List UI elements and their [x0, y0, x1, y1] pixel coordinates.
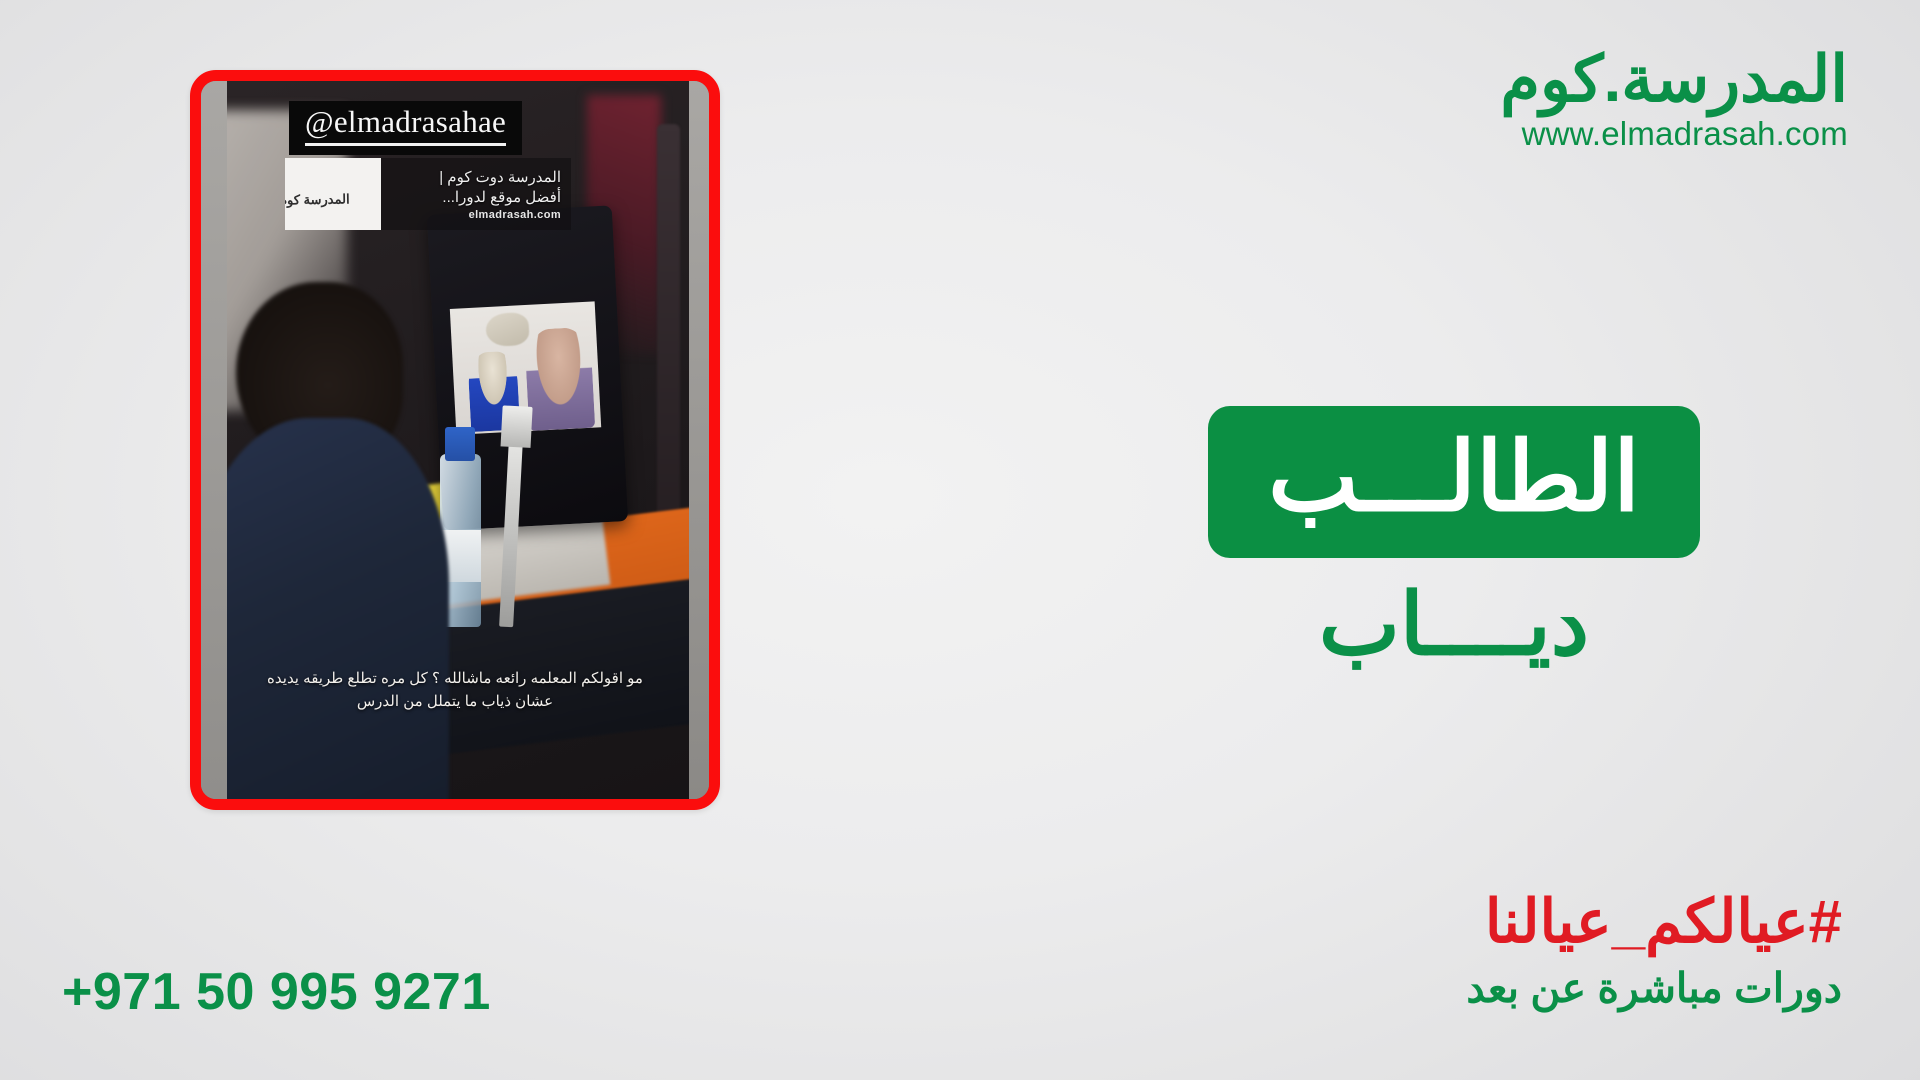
handle-underline — [305, 143, 506, 146]
link-preview-meta: المدرسة دوت كوم | أفضل موقع لدورا... elm… — [381, 158, 571, 230]
brand-logo: المدرسة.كوم www.elmadrasah.com — [1500, 46, 1848, 153]
student-name: ديــــاب — [1208, 578, 1700, 673]
video-caption: مو اقولكم المعلمه رائعه ماشالله ؟ كل مره… — [215, 667, 695, 714]
brand-website: www.elmadrasah.com — [1500, 115, 1848, 153]
instagram-handle-text: @elmadrasahae — [305, 106, 506, 139]
video-inner: @elmadrasahae المدرسة كوم المدرسة دوت كو… — [201, 81, 709, 799]
campaign-tagline: دورات مباشرة عن بعد — [1466, 965, 1842, 1012]
link-preview-title-line-2: أفضل موقع لدورا... — [391, 188, 561, 208]
contact-phone-number: +971 50 995 9271 — [62, 962, 491, 1022]
brand-name-arabic: المدرسة.كوم — [1500, 46, 1848, 113]
scene-student-body — [227, 418, 449, 799]
link-preview-thumbnail: المدرسة كوم — [285, 158, 381, 230]
video-thumbnail-card[interactable]: @elmadrasahae المدرسة كوم المدرسة دوت كو… — [190, 70, 720, 810]
link-preview-sticker[interactable]: المدرسة كوم المدرسة دوت كوم | أفضل موقع … — [285, 158, 571, 230]
video-caption-line-2: عشان ذياب ما يتملل من الدرس — [215, 690, 695, 713]
video-caption-line-1: مو اقولكم المعلمه رائعه ماشالله ؟ كل مره… — [215, 667, 695, 690]
link-preview-thumb-text: المدرسة كوم — [285, 191, 350, 208]
scene-teacher-hand — [485, 312, 530, 347]
campaign-hashtag: #عيالكم_عيالنا — [1485, 890, 1842, 953]
student-role-label: الطالـــب — [1268, 430, 1640, 526]
instagram-handle-overlay: @elmadrasahae — [289, 101, 522, 155]
scene-bottle-cap — [445, 427, 475, 461]
scene-teacher — [523, 327, 594, 431]
link-preview-title-line-1: المدرسة دوت كوم | — [391, 168, 561, 188]
scene-cable — [657, 124, 680, 569]
link-preview-url: elmadrasah.com — [391, 209, 561, 221]
student-role-badge: الطالـــب — [1208, 406, 1700, 558]
